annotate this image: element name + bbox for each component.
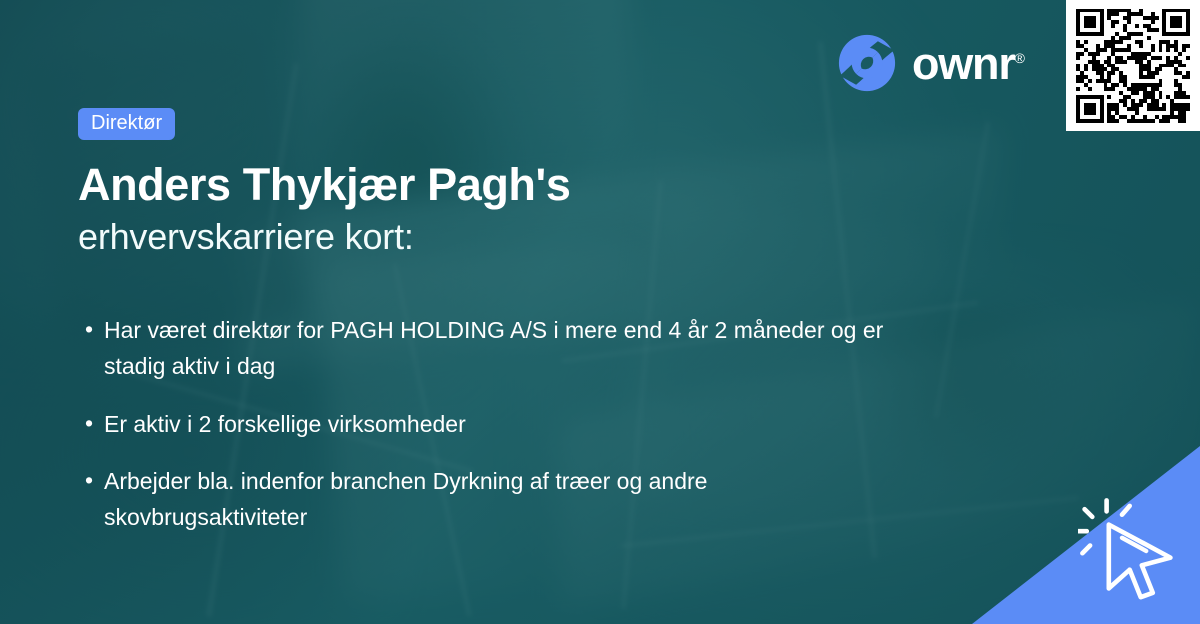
list-item: Er aktiv i 2 forskellige virksomheder: [84, 406, 884, 442]
list-item: Har været direktør for PAGH HOLDING A/S …: [84, 312, 884, 385]
qr-code-panel[interactable]: [1066, 0, 1200, 131]
click-cursor-icon: [1078, 496, 1188, 606]
ownr-wordmark: ownr®: [912, 41, 1025, 86]
qr-code-icon: [1076, 9, 1190, 123]
headline-block: Direktør Anders Thykjær Pagh's erhvervsk…: [78, 108, 938, 257]
role-badge: Direktør: [78, 108, 175, 140]
ownr-wordmark-text: ownr: [912, 38, 1015, 89]
page-subtitle: erhvervskarriere kort:: [78, 216, 938, 257]
page-title: Anders Thykjær Pagh's: [78, 162, 938, 208]
registered-trademark-icon: ®: [1015, 50, 1025, 66]
list-item: Arbejder bla. indenfor branchen Dyrkning…: [84, 463, 884, 536]
business-card-banner: ownr® Direktør Anders Thykjær Pagh's erh…: [0, 0, 1200, 624]
ownr-circle-swirl-icon: [838, 34, 896, 92]
ownr-logo[interactable]: ownr®: [838, 34, 1025, 92]
career-facts-list: Har været direktør for PAGH HOLDING A/S …: [84, 312, 884, 557]
